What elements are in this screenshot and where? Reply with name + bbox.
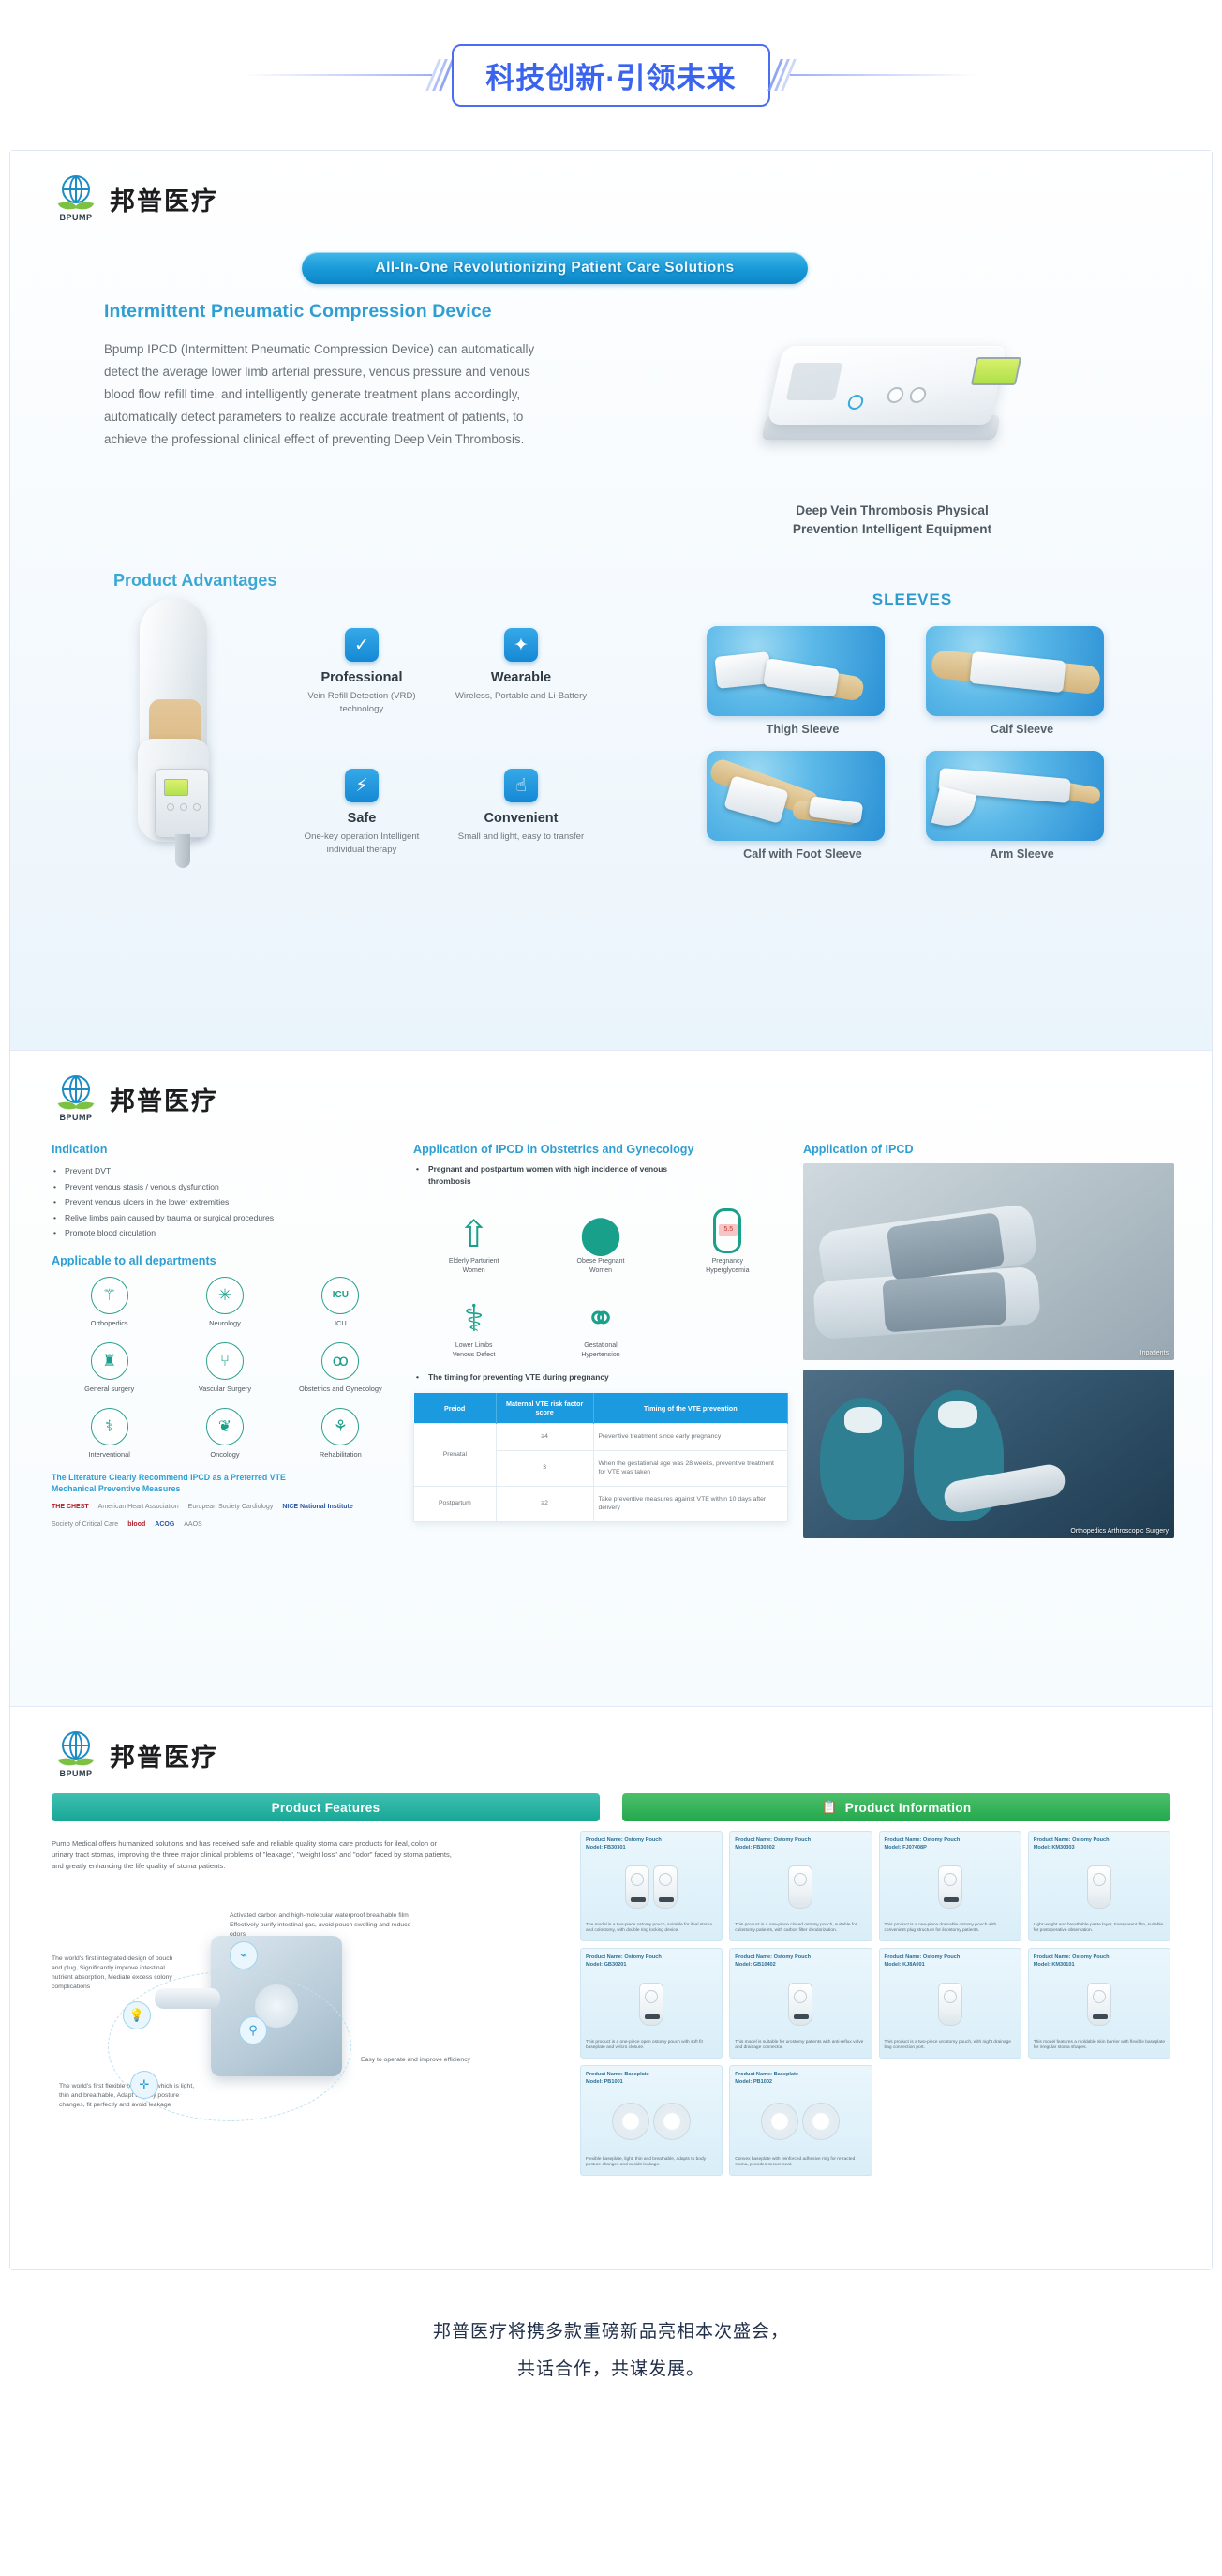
product-name: Product Name: Ostomy PouchModel: FB30302 [735, 1836, 866, 1851]
header-slash-right [774, 59, 790, 91]
sleeves-title: SLEEVES [613, 591, 1212, 609]
icu-icon: ICU [321, 1277, 359, 1314]
advantage-desc: Vein Refill Detection (VRD) technology [287, 690, 437, 715]
og-icon-label: Obese PregnantWomen [540, 1257, 661, 1276]
journal-logo: American Heart Association [98, 1502, 179, 1512]
product-desc: This model is suitable for urostomy pati… [735, 2040, 866, 2052]
ostomy-pouch-clear-icon [1034, 1855, 1165, 1919]
department-label: General surgery [52, 1385, 167, 1393]
journal-logo: European Society Cardiology [188, 1502, 274, 1512]
department-label: Interventional [52, 1450, 167, 1459]
department-label: Orthopedics [52, 1319, 167, 1327]
sleeve-label: Arm Sleeve [926, 847, 1119, 861]
knee-joint-icon: ⚚ [91, 1277, 128, 1314]
product-card[interactable]: Product Name: BaseplateModel: PB1002 Con… [729, 2065, 872, 2176]
list-item: The timing for preventing VTE during pre… [413, 1371, 788, 1384]
sleeve-label: Thigh Sleeve [707, 723, 900, 736]
magnifier-icon: ⚲ [239, 2016, 267, 2044]
check-circle-icon: ✓ [345, 628, 379, 662]
plus-icon: ✛ [130, 2071, 158, 2099]
product-desc: This product is a one-piece closed ostom… [735, 1923, 866, 1935]
stethoscope-icon: ⚭ [540, 1285, 661, 1338]
ipcd-app-title: Application of IPCD [803, 1143, 1174, 1156]
bpump-logo-icon: BPUMP [55, 1731, 97, 1778]
sleeve-item: Thigh Sleeve [707, 626, 900, 736]
product-name: Product Name: Ostomy PouchModel: GB10402 [735, 1954, 866, 1969]
product-row-3: Product Name: BaseplateModel: PB1001 Fle… [580, 2065, 1170, 2176]
brand-row-2: BPUMP 邦普医疗 [10, 1051, 1212, 1122]
list-item: Promote blood circulation [52, 1225, 398, 1241]
lightbulb-icon: 💡 [123, 2001, 151, 2029]
sleeve-label: Calf Sleeve [926, 723, 1119, 736]
department-label: ICU [283, 1319, 398, 1327]
product-card[interactable]: Product Name: Ostomy PouchModel: FB30301… [580, 1831, 723, 1941]
ribbon-icon: ❦ [206, 1408, 244, 1445]
ostomy-pouch-pair-icon [586, 1855, 717, 1919]
department-item: ICU ICU [283, 1277, 398, 1327]
baseplate-ring-icon [586, 2089, 717, 2153]
indication-column: Indication Prevent DVT Prevent venous st… [52, 1143, 398, 1538]
thigh-sleeve-image [707, 626, 885, 716]
bpump-logo-icon: BPUMP [55, 175, 97, 222]
department-label: Obstetrics and Gynecology [283, 1385, 398, 1393]
og-icon-item: 5.5 PregnancyHyperglycemia [667, 1201, 788, 1276]
product-name: Product Name: BaseplateModel: PB1001 [586, 2071, 717, 2086]
pregnant-woman-arrow-icon: ⇧ [413, 1201, 534, 1253]
table-row: Prenatal ≥4 Preventive treatment since e… [414, 1424, 788, 1451]
journal-logo: blood [127, 1520, 145, 1530]
product-card[interactable]: Product Name: Ostomy PouchModel: GB30201… [580, 1948, 723, 2059]
product-desc: Flexible baseplate, light, thin and brea… [586, 2157, 717, 2169]
calf-foot-sleeve-image [707, 751, 885, 841]
product-name: Product Name: Ostomy PouchModel: KJ8A001 [885, 1954, 1016, 1969]
advantages-grid: ✓ Professional Vein Refill Detection (VR… [287, 628, 596, 861]
advantage-desc: Small and light, easy to transfer [446, 831, 596, 844]
features-paragraph: Pump Medical offers humanized solutions … [52, 1838, 455, 1872]
cell-score: 3 [496, 1450, 593, 1486]
product-features-title: Product Features [272, 1801, 380, 1815]
brand-row-1: BPUMP 邦普医疗 [10, 151, 1212, 222]
ostomy-pouch-uro-icon [735, 1972, 866, 2036]
header-banner: 科技创新·引领未来 [428, 44, 793, 107]
product-desc: This model features a moldable skin barr… [1034, 2040, 1165, 2052]
rehab-icon: ⚘ [321, 1408, 359, 1445]
card-product-features: BPUMP 邦普医疗 Product Features 📋 Product In… [10, 1707, 1212, 2269]
journal-logo: THE CHEST [52, 1502, 89, 1512]
leg-vein-icon: ⚕ [413, 1285, 534, 1338]
og-icon-item: ⇧ Elderly ParturientWomen [413, 1201, 534, 1276]
advantage-item: ✓ Professional Vein Refill Detection (VR… [287, 628, 437, 720]
cell-period: Postpartum [414, 1486, 497, 1521]
vessel-icon: ⑂ [206, 1342, 244, 1380]
logo-wordmark: BPUMP [55, 213, 97, 222]
product-desc: Convex baseplate with reinforced adhesiv… [735, 2157, 866, 2169]
hand-tap-icon: ☝ [504, 769, 538, 802]
device-caption-line2: Prevention Intelligent Equipment [573, 520, 1212, 539]
cell-period: Prenatal [414, 1424, 497, 1487]
advantage-item: ☝ Convenient Small and light, easy to tr… [446, 769, 596, 861]
neuron-icon: ✳ [206, 1277, 244, 1314]
col-timing: Timing of the VTE prevention [593, 1393, 788, 1424]
cell-score: ≥4 [496, 1424, 593, 1451]
department-item: ⑂ Vascular Surgery [167, 1342, 282, 1393]
product-card[interactable]: Product Name: Ostomy PouchModel: KJ8A001… [879, 1948, 1021, 2059]
cell-timing: Take preventive measures against VTE wit… [593, 1486, 788, 1521]
obese-woman-icon: ⬤ [540, 1201, 661, 1253]
advantage-name: Convenient [446, 811, 596, 826]
department-label: Oncology [167, 1450, 282, 1459]
og-bullet-list: Pregnant and postpartum women with high … [413, 1163, 788, 1188]
all-in-one-banner: All-In-One Revolutionizing Patient Care … [302, 252, 808, 284]
literature-line2: Mechanical Preventive Measures [52, 1483, 398, 1494]
leg-with-device-image [85, 598, 287, 842]
product-features-header: Product Features [52, 1793, 600, 1821]
cell-timing: When the gestational age was 28 weeks, p… [593, 1450, 788, 1486]
product-card[interactable]: Product Name: Ostomy PouchModel: GB10402… [729, 1948, 872, 2059]
glucose-reading: 5.5 [719, 1224, 738, 1236]
feather-icon: ✦ [504, 628, 538, 662]
product-name: Product Name: Ostomy PouchModel: KM30101 [1034, 1954, 1165, 1969]
surgery-photo: Orthopedics Arthroscopic Surgery [803, 1370, 1174, 1538]
list-item: Prevent venous ulcers in the lower extre… [52, 1194, 398, 1210]
brand-name: 邦普医疗 [110, 1737, 218, 1774]
features-diagram: Pump Medical offers humanized solutions … [52, 1831, 558, 2176]
department-item: ❦ Oncology [167, 1408, 282, 1459]
sleeve-item: Calf with Foot Sleeve [707, 751, 900, 861]
journal-logo: NICE National Institute [282, 1502, 352, 1512]
department-item: ⚕ Interventional [52, 1408, 167, 1459]
product-name: Product Name: BaseplateModel: PB1002 [735, 2071, 866, 2086]
page-header: 科技创新·引领未来 [0, 0, 1222, 150]
og-icon-label: PregnancyHyperglycemia [667, 1257, 788, 1276]
glucose-meter-icon: 5.5 [667, 1201, 788, 1253]
advantage-name: Safe [287, 811, 437, 826]
product-desc: This product is a two-piece urostomy pou… [885, 2040, 1016, 2052]
logo-wordmark: BPUMP [55, 1113, 97, 1122]
product-name: Product Name: Ostomy PouchModel: FB30301 [586, 1836, 717, 1851]
sleeve-item: Arm Sleeve [926, 751, 1119, 861]
pregnant-icon: ꝏ [321, 1342, 359, 1380]
col-score: Maternal VTE risk factor score [496, 1393, 593, 1424]
catheter-icon: ⚕ [91, 1408, 128, 1445]
list-item: Relive limbs pain caused by trauma or su… [52, 1210, 398, 1226]
vte-timing-table: Preiod Maternal VTE risk factor score Ti… [413, 1393, 788, 1522]
baseplate-convex-icon [735, 2089, 866, 2153]
device-screen-icon [971, 357, 1021, 385]
og-bullet-line1: Pregnant and postpartum women with high … [428, 1164, 667, 1174]
list-item: Prevent venous stasis / venous dysfuncti… [52, 1179, 398, 1195]
photo-caption: Orthopedics Arthroscopic Surgery [1070, 1528, 1169, 1535]
ipcd-heading: Intermittent Pneumatic Compression Devic… [104, 301, 573, 322]
vte-bullet-list: The timing for preventing VTE during pre… [413, 1371, 788, 1384]
product-desc: This product is a one-piece drainable os… [885, 1923, 1016, 1935]
list-item: Prevent DVT [52, 1163, 398, 1179]
og-title: Application of IPCD in Obstetrics and Gy… [413, 1143, 788, 1156]
ipcd-application-column: Application of IPCD Inpatients Orthopedi… [803, 1143, 1174, 1538]
ostomy-pouch-mold-icon [1034, 1972, 1165, 2036]
surgeon-icon: ♜ [91, 1342, 128, 1380]
literature-heading: The Literature Clearly Recommend IPCD as… [52, 1472, 398, 1494]
og-icon-label: Lower LimbsVenous Defect [413, 1341, 534, 1360]
department-item: ꝏ Obstetrics and Gynecology [283, 1342, 398, 1393]
table-header-row: Preiod Maternal VTE risk factor score Ti… [414, 1393, 788, 1424]
og-icon-item: ⚕ Lower LimbsVenous Defect [413, 1285, 534, 1360]
og-icon-item: ⚭ GestationalHypertension [540, 1285, 661, 1360]
photo-caption: Inpatients [1140, 1350, 1169, 1356]
product-name: Product Name: Ostomy PouchModel: FJ07408… [885, 1836, 1016, 1851]
inpatient-photo: Inpatients [803, 1163, 1174, 1360]
departments-grid: ⚚ Orthopedics ✳ Neurology ICU ICU ♜ Gene… [52, 1277, 398, 1459]
logo-wordmark: BPUMP [55, 1769, 97, 1778]
card-indication-application: BPUMP 邦普医疗 Indication Prevent DVT Preven… [10, 1051, 1212, 1707]
card-ipcd-overview: BPUMP 邦普医疗 All-In-One Revolutionizing Pa… [10, 151, 1212, 1051]
ipcd-device-image [747, 329, 1037, 470]
product-row-2: Product Name: Ostomy PouchModel: GB30201… [580, 1948, 1170, 2059]
advantage-name: Wearable [446, 670, 596, 685]
brand-name: 邦普医疗 [110, 181, 218, 217]
advantage-item: ⚡ Safe One-key operation Intelligent ind… [287, 769, 437, 861]
sleeve-item: Calf Sleeve [926, 626, 1119, 736]
product-name: Product Name: Ostomy PouchModel: GB30201 [586, 1954, 717, 1969]
product-name: Product Name: Ostomy PouchModel: KM30303 [1034, 1836, 1165, 1851]
page-footer: 邦普医疗将携多款重磅新品亮相本次盛会， 共话合作，共谋发展。 [0, 2270, 1222, 2426]
product-card[interactable]: Product Name: Ostomy PouchModel: KM30303… [1028, 1831, 1170, 1941]
col-period: Preiod [414, 1393, 497, 1424]
product-information-title: Product Information [845, 1801, 972, 1815]
product-desc: Light weight and breathable paste layer,… [1034, 1923, 1165, 1935]
clipboard-icon: 📋 [822, 1800, 838, 1815]
calf-sleeve-image [926, 626, 1104, 716]
literature-logos-row2: Society of Critical Care blood ACOG AAOS [52, 1520, 398, 1530]
og-icons-row2: ⚕ Lower LimbsVenous Defect ⚭ Gestational… [413, 1285, 788, 1360]
ipcd-paragraph: Bpump IPCD (Intermittent Pneumatic Compr… [104, 338, 554, 451]
ostomy-pouch-two-icon [885, 1972, 1016, 2036]
product-card[interactable]: Product Name: BaseplateModel: PB1001 Fle… [580, 2065, 723, 2176]
header-line-left [245, 74, 432, 76]
advantage-item: ✦ Wearable Wireless, Portable and Li-Bat… [446, 628, 596, 720]
advantage-name: Professional [287, 670, 437, 685]
bpump-logo-icon: BPUMP [55, 1075, 97, 1122]
og-icon-item: ⬤ Obese PregnantWomen [540, 1201, 661, 1276]
departments-title: Applicable to all departments [52, 1254, 398, 1267]
product-card[interactable]: Product Name: Ostomy PouchModel: FB30302… [729, 1831, 872, 1941]
page-title: 科技创新·引领未来 [485, 62, 736, 95]
indication-title: Indication [52, 1143, 398, 1156]
sleeves-section: SLEEVES Thigh Sleeve [596, 598, 1212, 861]
product-information-header: 📋 Product Information [622, 1793, 1170, 1821]
product-card[interactable]: Product Name: Ostomy PouchModel: KM30101… [1028, 1948, 1170, 2059]
product-advantages-title: Product Advantages [113, 571, 1212, 591]
department-label: Rehabilitation [283, 1450, 398, 1459]
literature-logos-row1: THE CHEST American Heart Association Eur… [52, 1502, 398, 1512]
cell-timing: Preventive treatment since early pregnan… [593, 1424, 788, 1451]
department-item: ✳ Neurology [167, 1277, 282, 1327]
department-item: ⚘ Rehabilitation [283, 1408, 398, 1459]
header-slash-left [432, 59, 448, 91]
literature-line1: The Literature Clearly Recommend IPCD as… [52, 1472, 398, 1483]
arm-sleeve-image [926, 751, 1104, 841]
product-information-grid: Product Name: Ostomy PouchModel: FB30301… [580, 1831, 1170, 2176]
og-bullet-line2: thrombosis [428, 1176, 471, 1186]
cell-score: ≥2 [496, 1486, 593, 1521]
ostomy-pouch-open-icon [586, 1972, 717, 2036]
indication-list: Prevent DVT Prevent venous stasis / veno… [52, 1163, 398, 1241]
obstetrics-column: Application of IPCD in Obstetrics and Gy… [413, 1143, 788, 1538]
content-frame: BPUMP 邦普医疗 All-In-One Revolutionizing Pa… [9, 150, 1213, 2270]
og-icon-label: GestationalHypertension [540, 1341, 661, 1360]
product-desc: This product is a one-piece open ostomy … [586, 2040, 717, 2052]
department-label: Vascular Surgery [167, 1385, 282, 1393]
product-row-1: Product Name: Ostomy PouchModel: FB30301… [580, 1831, 1170, 1941]
filter-icon: ⌁ [230, 1941, 258, 1969]
ostomy-pouch-single-icon [735, 1855, 866, 1919]
product-card[interactable]: Product Name: Ostomy PouchModel: FJ07408… [879, 1831, 1021, 1941]
product-desc: The model is a two-piece ostomy pouch, s… [586, 1923, 717, 1935]
journal-logo: ACOG [155, 1520, 174, 1530]
og-icon-label: Elderly ParturientWomen [413, 1257, 534, 1276]
header-title-pill: 科技创新·引领未来 [452, 44, 769, 107]
footer-line-2: 共话合作，共谋发展。 [0, 2351, 1222, 2389]
department-label: Neurology [167, 1319, 282, 1327]
advantage-desc: One-key operation Intelligent individual… [287, 831, 437, 856]
og-icons-row1: ⇧ Elderly ParturientWomen ⬤ Obese Pregna… [413, 1201, 788, 1276]
header-line-right [790, 74, 977, 76]
journal-logo: AAOS [184, 1520, 201, 1530]
feature-note-right: Easy to operate and improve efficiency [361, 2056, 501, 2065]
list-item: Pregnant and postpartum women with high … [413, 1163, 788, 1188]
brand-row-3: BPUMP 邦普医疗 [10, 1707, 1212, 1778]
device-caption: Deep Vein Thrombosis Physical Prevention… [573, 502, 1212, 539]
advantage-desc: Wireless, Portable and Li-Battery [446, 690, 596, 703]
footer-line-1: 邦普医疗将携多款重磅新品亮相本次盛会， [0, 2314, 1222, 2351]
device-caption-line1: Deep Vein Thrombosis Physical [573, 502, 1212, 520]
journal-logo: Society of Critical Care [52, 1520, 118, 1530]
ostomy-pouch-drain-icon [885, 1855, 1016, 1919]
all-in-one-banner-text: All-In-One Revolutionizing Patient Care … [375, 260, 734, 277]
shield-bolt-icon: ⚡ [345, 769, 379, 802]
department-item: ♜ General surgery [52, 1342, 167, 1393]
brand-name: 邦普医疗 [110, 1081, 218, 1117]
sleeve-label: Calf with Foot Sleeve [707, 847, 900, 861]
table-row: Postpartum ≥2 Take preventive measures a… [414, 1486, 788, 1521]
department-item: ⚚ Orthopedics [52, 1277, 167, 1327]
